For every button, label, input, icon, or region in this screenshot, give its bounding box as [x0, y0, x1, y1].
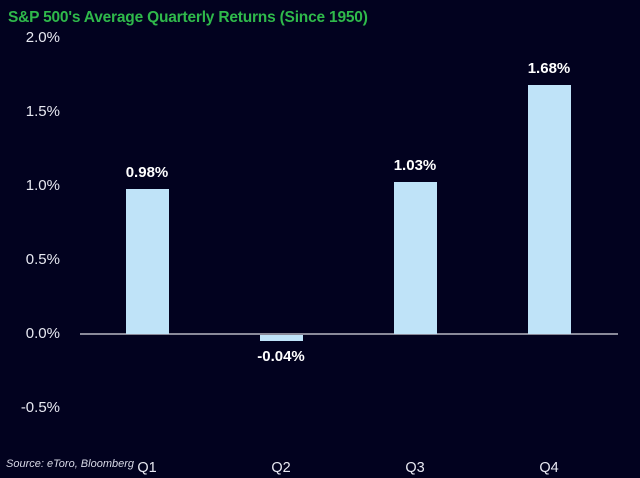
y-axis-tick-label: -0.5% — [0, 399, 60, 416]
bar-q1[interactable] — [126, 189, 169, 334]
x-axis-tick-label: Q2 — [214, 460, 348, 476]
bar-group: 1.68% Q4 — [482, 40, 616, 422]
y-axis-tick-label: 2.0% — [0, 29, 60, 46]
bar-q4[interactable] — [528, 85, 571, 334]
bar-value-label: 1.68% — [482, 60, 616, 77]
bar-group: 0.98% Q1 — [80, 40, 214, 422]
bar-group: -0.04% Q2 — [214, 40, 348, 422]
x-axis-tick-label: Q3 — [348, 460, 482, 476]
bar-value-label: 0.98% — [80, 164, 214, 181]
y-axis-tick-label: 1.5% — [0, 103, 60, 120]
y-axis-tick-label: 0.5% — [0, 251, 60, 268]
bar-value-label: 1.03% — [348, 157, 482, 174]
chart-container: S&P 500's Average Quarterly Returns (Sin… — [0, 0, 640, 478]
plot-area: 0.98% Q1 -0.04% Q2 1.03% Q3 1.68% Q4 — [80, 40, 618, 422]
bar-q2[interactable] — [260, 335, 303, 341]
x-axis-tick-label: Q4 — [482, 460, 616, 476]
source-note: Source: eToro, Bloomberg — [6, 458, 134, 470]
bar-value-label: -0.04% — [214, 348, 348, 365]
y-axis-tick-label: 1.0% — [0, 177, 60, 194]
bar-group: 1.03% Q3 — [348, 40, 482, 422]
bar-q3[interactable] — [394, 182, 437, 334]
chart-title: S&P 500's Average Quarterly Returns (Sin… — [8, 9, 368, 27]
y-axis-tick-label: 0.0% — [0, 325, 60, 342]
